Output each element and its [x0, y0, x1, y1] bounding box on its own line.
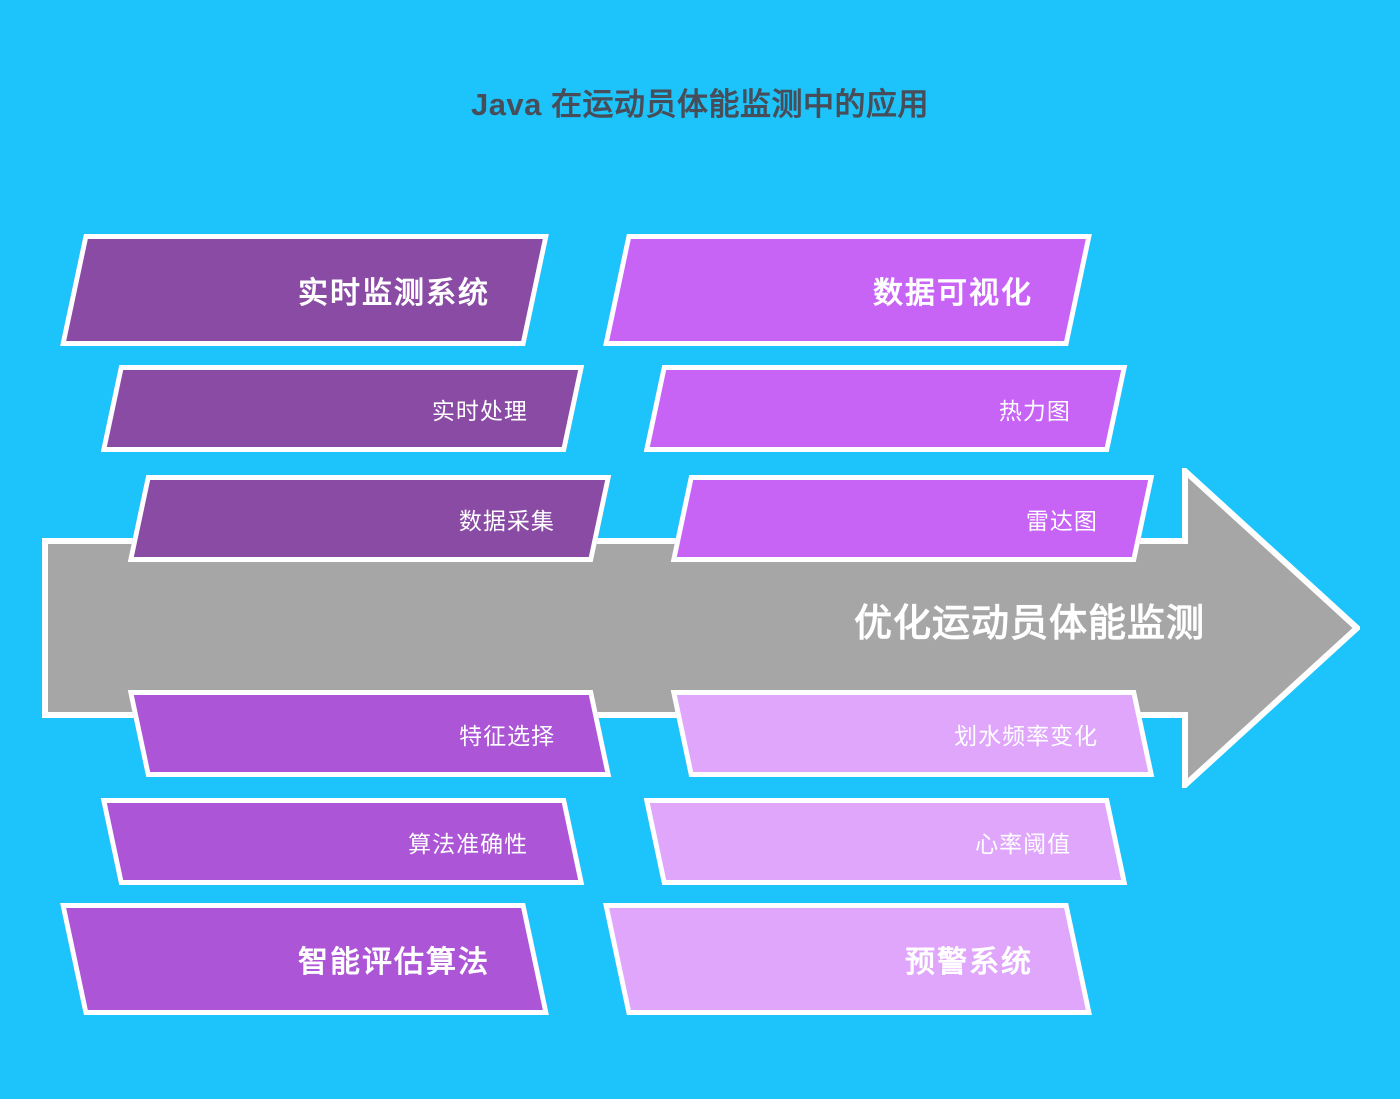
group-top-left-header[interactable]: 实时监测系统: [60, 234, 549, 346]
group-bottom-left-header[interactable]: 智能评估算法: [60, 903, 549, 1015]
group-bottom-right-item-1[interactable]: 心率阈值: [644, 798, 1127, 885]
bar-label: 热力图: [999, 392, 1113, 426]
bar-label: 算法准确性: [408, 825, 570, 859]
group-bottom-left-item-0[interactable]: 特征选择: [128, 690, 611, 777]
bar-label: 数据可视化: [873, 268, 1075, 312]
bar-label: 数据采集: [459, 502, 597, 536]
bar-label: 划水频率变化: [954, 717, 1140, 751]
bar-label: 智能评估算法: [298, 937, 532, 981]
group-top-right-header[interactable]: 数据可视化: [603, 234, 1092, 346]
group-bottom-right-header[interactable]: 预警系统: [603, 903, 1092, 1015]
group-top-right-item-1[interactable]: 雷达图: [671, 475, 1154, 562]
bar-label: 雷达图: [1026, 502, 1140, 536]
group-bottom-right-item-0[interactable]: 划水频率变化: [671, 690, 1154, 777]
bar-label: 预警系统: [905, 937, 1075, 981]
bar-label: 实时监测系统: [298, 268, 532, 312]
group-top-right-item-0[interactable]: 热力图: [644, 365, 1127, 452]
group-top-left-item-0[interactable]: 实时处理: [101, 365, 584, 452]
group-bottom-left-item-1[interactable]: 算法准确性: [101, 798, 584, 885]
bar-label: 心率阈值: [975, 825, 1113, 859]
bar-label: 实时处理: [432, 392, 570, 426]
group-top-left-item-1[interactable]: 数据采集: [128, 475, 611, 562]
diagram-canvas: Java 在运动员体能监测中的应用 优化运动员体能监测 实时监测系统 实时处理 …: [0, 0, 1400, 1099]
page-title: Java 在运动员体能监测中的应用: [0, 86, 1400, 123]
bar-label: 特征选择: [459, 717, 597, 751]
